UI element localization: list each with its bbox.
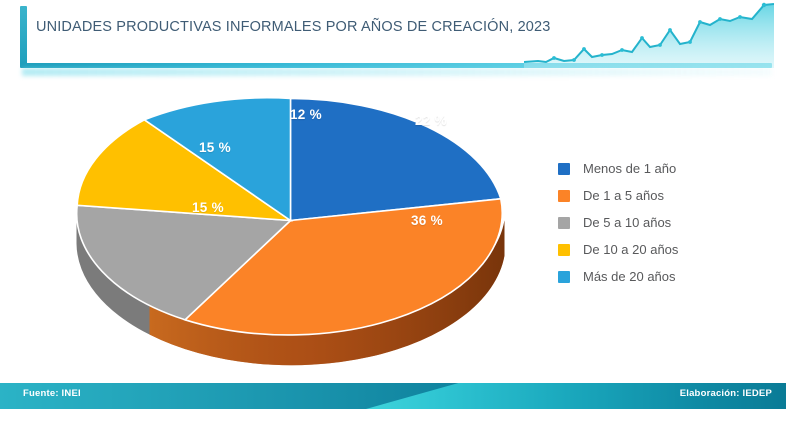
chart-area: 22 % 36 % 15 % 15 % 12 % Menos de 1 año … [0,78,786,378]
legend-swatch-icon [558,271,570,283]
header-banner: UNIDADES PRODUCTIVAS INFORMALES POR AÑOS… [0,0,786,78]
header-accent-glow [22,68,772,76]
legend-item-menos-de-1-ano[interactable]: Menos de 1 año [558,155,758,182]
pie-label-menos-de-1-ano: 22 % [415,113,447,128]
legend-swatch-icon [558,190,570,202]
legend-swatch-icon [558,244,570,256]
legend-item-de-1-a-5-anos[interactable]: De 1 a 5 años [558,182,758,209]
legend-swatch-icon [558,217,570,229]
footer-bar: Fuente: INEI Elaboración: IEDEP [0,383,786,409]
pie-label-mas-de-20-anos: 12 % [290,107,322,122]
legend-item-de-5-a-10-anos[interactable]: De 5 a 10 años [558,209,758,236]
footer-credit-label: Elaboración: IEDEP [680,388,772,399]
legend-label: Más de 20 años [583,269,676,284]
pie-label-de-1-a-5-anos: 36 % [411,213,443,228]
legend-item-mas-de-20-anos[interactable]: Más de 20 años [558,263,758,290]
legend-label: Menos de 1 año [583,161,676,176]
pie-chart-svg [55,80,525,370]
page-title: UNIDADES PRODUCTIVAS INFORMALES POR AÑOS… [36,19,550,35]
pie-label-de-10-a-20-anos: 15 % [199,140,231,155]
rising-area-sparkline-icon [524,0,774,68]
chart-legend: Menos de 1 año De 1 a 5 años De 5 a 10 a… [558,155,758,290]
pie-label-de-5-a-10-anos: 15 % [192,200,224,215]
legend-item-de-10-a-20-anos[interactable]: De 10 a 20 años [558,236,758,263]
legend-label: De 1 a 5 años [583,188,664,203]
legend-swatch-icon [558,163,570,175]
footer-source-label: Fuente: INEI [23,388,81,399]
pie-chart: 22 % 36 % 15 % 15 % 12 % [55,80,525,370]
header-accent-vertical-bar [20,6,27,66]
legend-label: De 10 a 20 años [583,242,678,257]
legend-label: De 5 a 10 años [583,215,671,230]
